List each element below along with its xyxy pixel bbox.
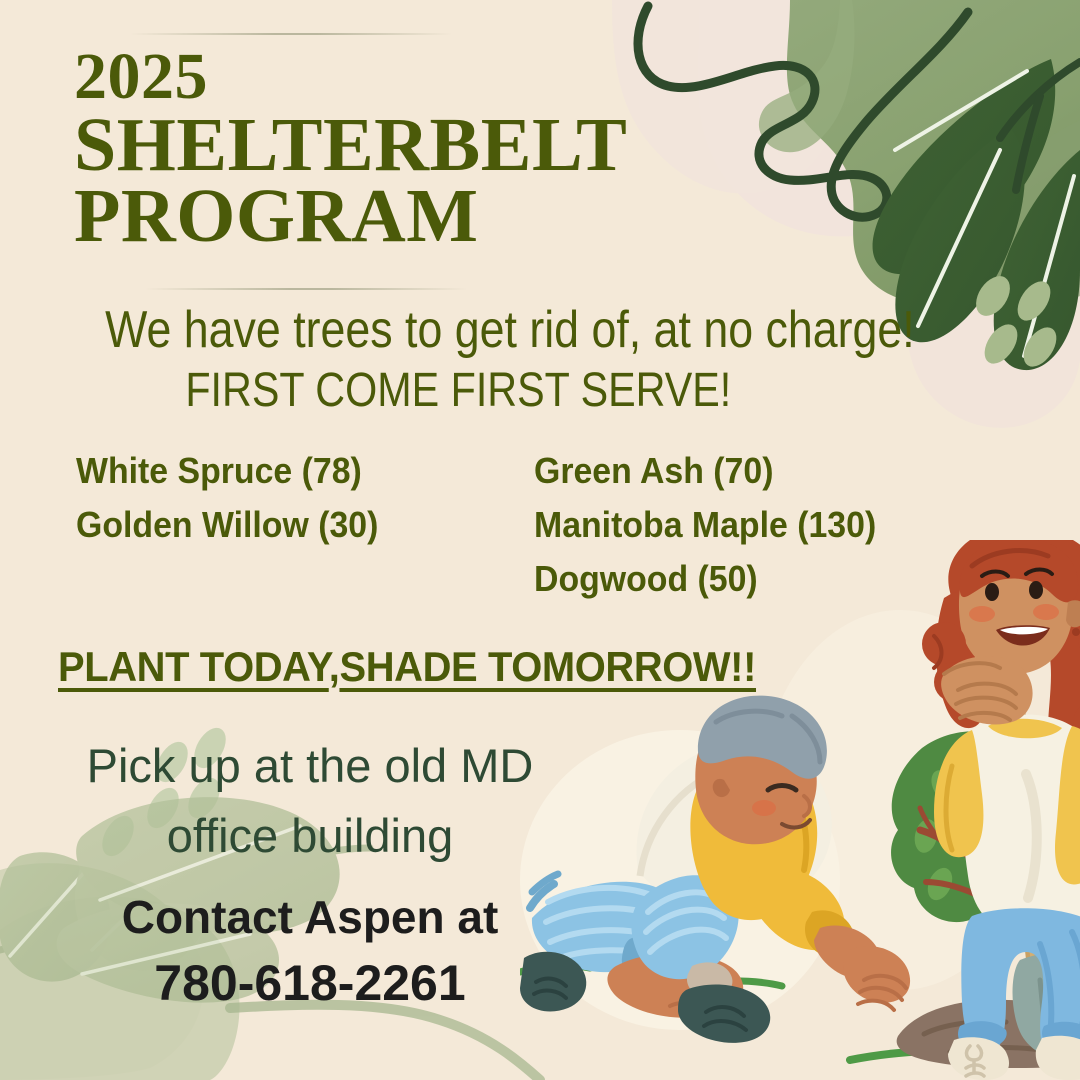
man-planting-figure [520, 696, 910, 1043]
tree-list-left-column: White Spruce (78) Golden Willow (30) [76, 444, 378, 552]
slogan-comma: , [329, 643, 340, 690]
sage-blob-top-right [759, 0, 1080, 304]
divider-top [130, 33, 452, 35]
tree-list-item: Green Ash (70) [534, 444, 876, 498]
man-hand [843, 946, 910, 1010]
page-title: 2025 SHELTERBELT PROGRAM [74, 44, 714, 251]
tree-list-item: Golden Willow (30) [76, 498, 378, 552]
title-line-shelterbelt: SHELTERBELT [74, 110, 714, 181]
title-line-program: PROGRAM [74, 181, 714, 252]
title-year: 2025 [74, 44, 714, 110]
subtitle-first-come: FIRST COME FIRST SERVE! [76, 363, 1005, 418]
subtitle-offer: We have trees to get rid of, at no charg… [76, 300, 1005, 360]
slogan-part-one: PLANT TODAY [58, 643, 329, 690]
poster-canvas: 2025 SHELTERBELT PROGRAM We have trees t… [0, 0, 1080, 1080]
illustration-two-people-planting-a-tree [520, 540, 1080, 1080]
tree-list-item: White Spruce (78) [76, 444, 378, 498]
divider-below-title [145, 288, 467, 290]
woman-with-shovel-figure [922, 540, 1080, 1080]
